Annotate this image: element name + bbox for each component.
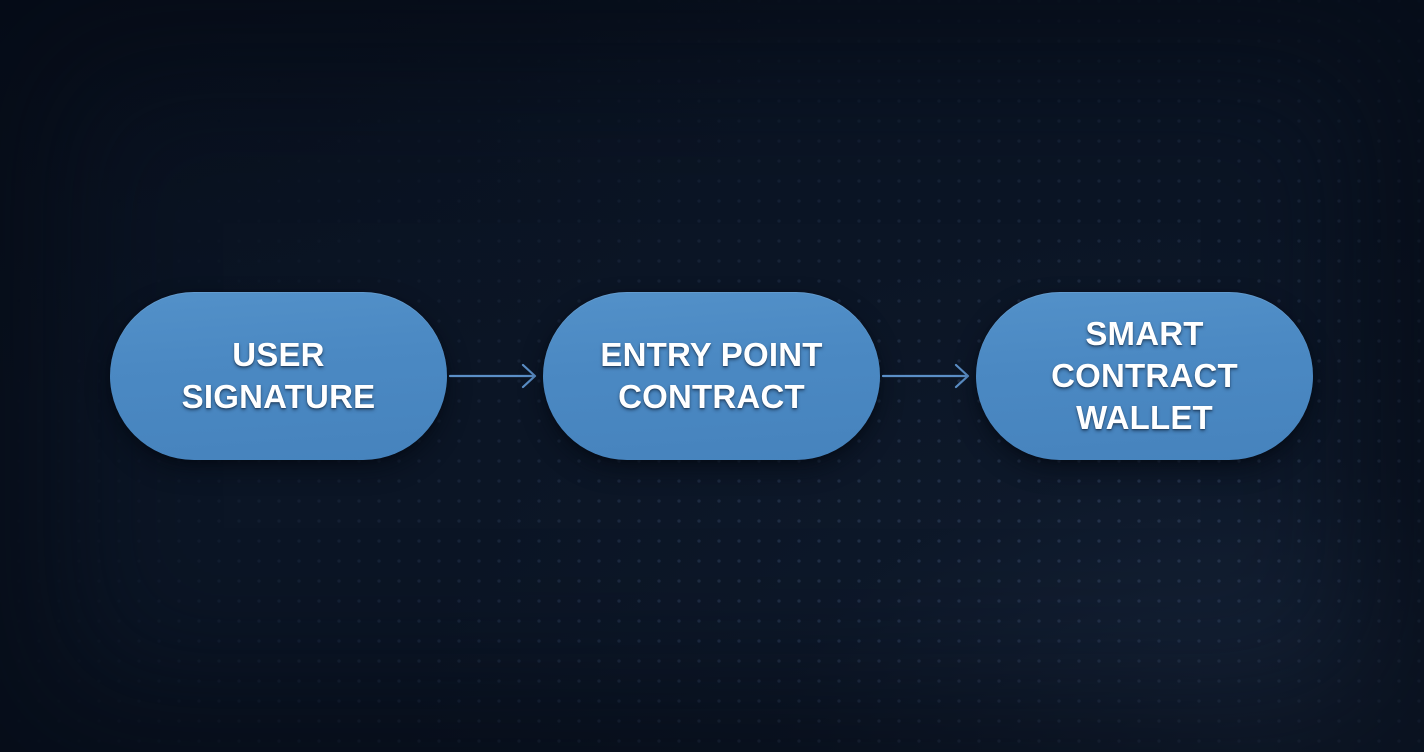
connector-entry-point-to-smart-contract-wallet — [880, 356, 976, 396]
node-smart-contract-wallet[interactable]: SMART CONTRACT WALLET — [976, 292, 1313, 460]
node-user-signature-label: USER SIGNATURE — [182, 334, 376, 418]
diagram-canvas: USER SIGNATURE ENTRY POINT CONTRACT SMAR… — [0, 0, 1424, 752]
flow-diagram: USER SIGNATURE ENTRY POINT CONTRACT SMAR… — [0, 0, 1424, 752]
node-entry-point-contract-label: ENTRY POINT CONTRACT — [600, 334, 822, 418]
node-entry-point-contract[interactable]: ENTRY POINT CONTRACT — [543, 292, 880, 460]
arrow-right-icon — [880, 356, 976, 396]
arrow-right-icon — [447, 356, 543, 396]
node-smart-contract-wallet-label: SMART CONTRACT WALLET — [1051, 313, 1238, 439]
node-user-signature[interactable]: USER SIGNATURE — [110, 292, 447, 460]
connector-user-signature-to-entry-point — [447, 356, 543, 396]
